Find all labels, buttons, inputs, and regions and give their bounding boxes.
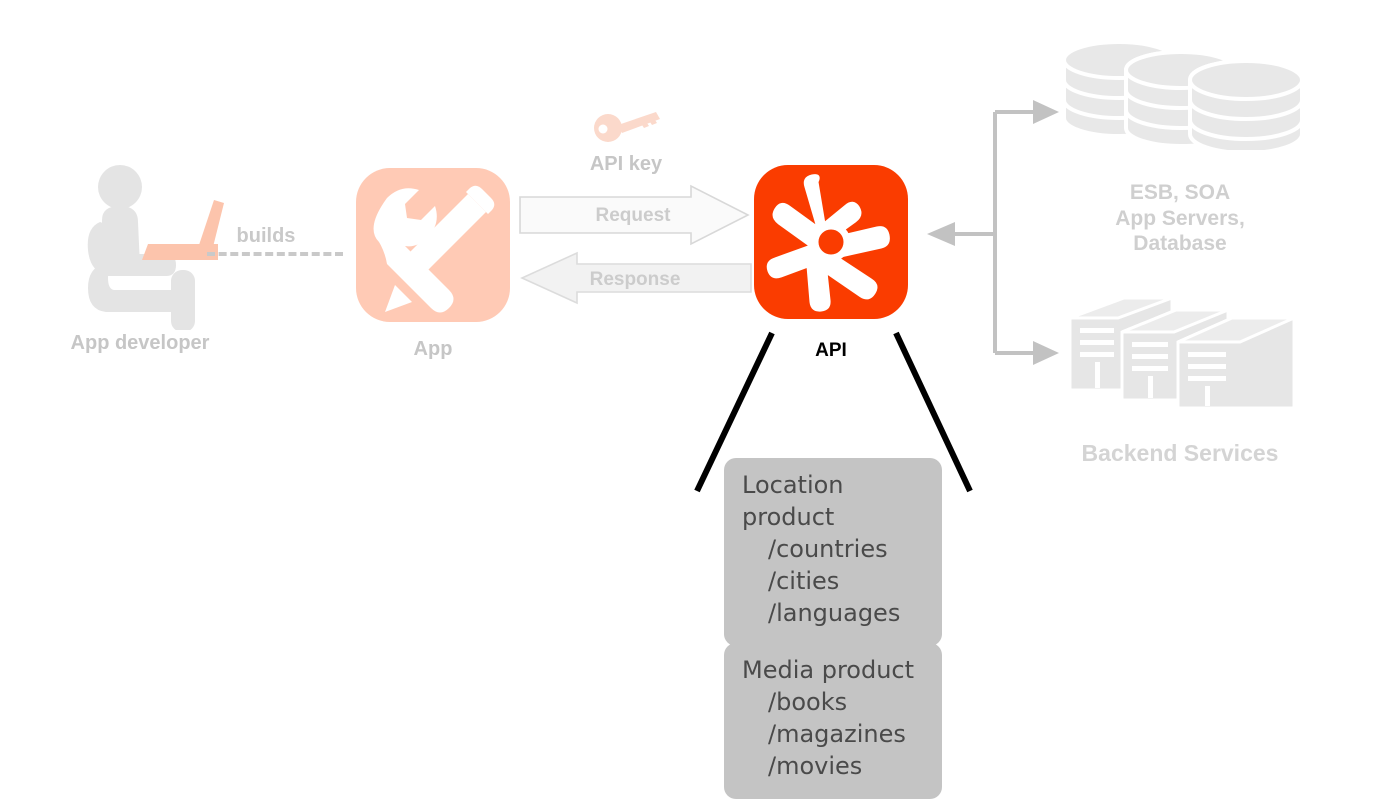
product-path: /languages xyxy=(742,598,924,630)
arrowhead-to-database xyxy=(1033,100,1059,124)
server-racks-icon xyxy=(1062,290,1302,410)
arrowhead-to-api xyxy=(927,222,955,246)
app-tile[interactable] xyxy=(356,168,510,322)
product-card-media[interactable]: Media product /books /magazines /movies xyxy=(724,643,942,799)
wrench-and-pencil-icon xyxy=(356,168,510,322)
arrowhead-to-servers xyxy=(1033,341,1059,365)
product-path: /books xyxy=(742,687,924,719)
product-path: /cities xyxy=(742,566,924,598)
builds-label: builds xyxy=(196,225,336,248)
product-card-location[interactable]: Location product /countries /cities /lan… xyxy=(724,458,942,646)
product-path: /countries xyxy=(742,534,924,566)
response-label: Response xyxy=(550,269,720,291)
product-title: Location product xyxy=(742,470,924,534)
app-developer-label: App developer xyxy=(30,332,250,355)
diagram-canvas: App developer builds App xyxy=(0,0,1382,810)
api-to-backend-connectors xyxy=(915,95,1065,370)
apigee-star-icon xyxy=(754,165,908,319)
database-stack-icon xyxy=(1058,38,1308,150)
builds-dashed-line xyxy=(207,252,343,256)
app-label: App xyxy=(353,338,513,361)
product-path: /movies xyxy=(742,751,924,783)
api-tile[interactable] xyxy=(754,165,908,319)
request-label: Request xyxy=(548,205,718,227)
product-title: Media product xyxy=(742,655,924,687)
api-key-label: API key xyxy=(556,153,696,176)
product-path: /magazines xyxy=(742,719,924,751)
key-icon xyxy=(592,110,662,142)
backend-lower-label: Backend Services xyxy=(1050,440,1310,467)
backend-upper-label: ESB, SOA App Servers, Database xyxy=(1065,180,1295,257)
